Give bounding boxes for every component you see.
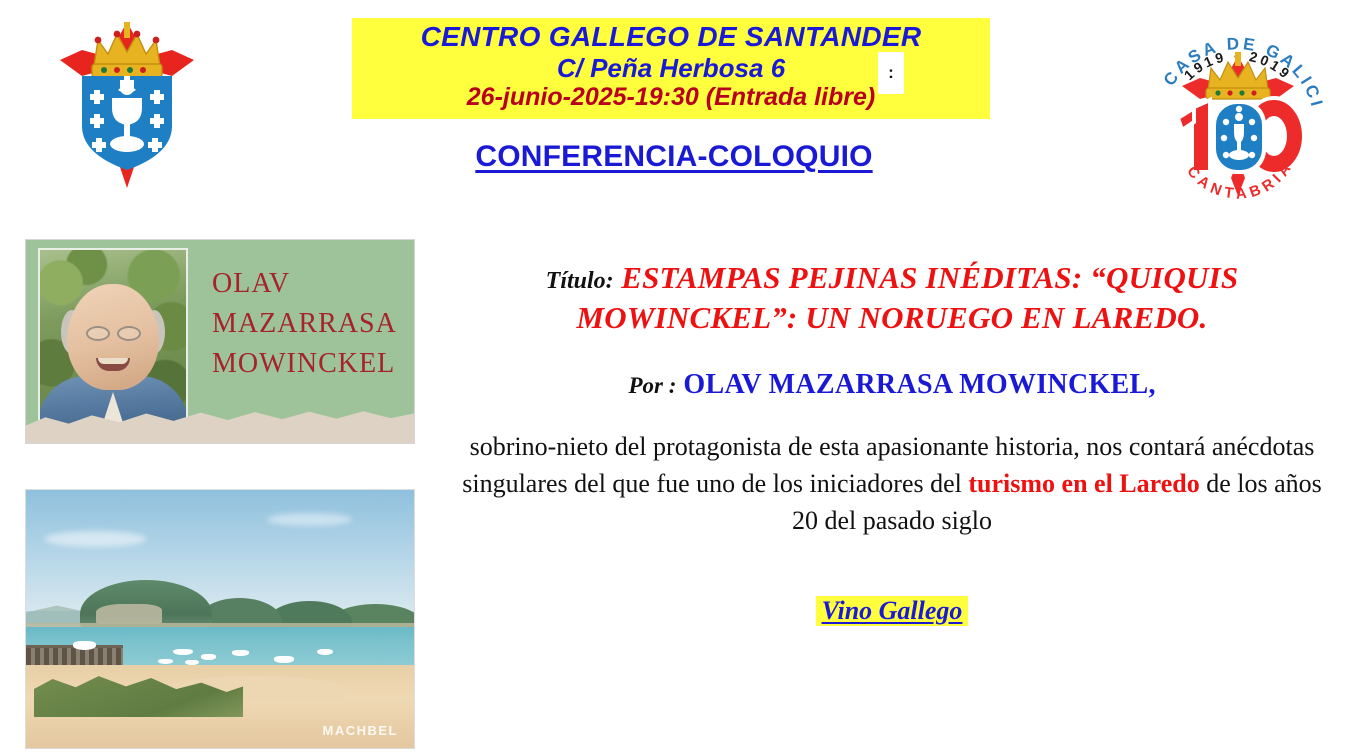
main-content-column: Título: ESTAMPAS PEJINAS INÉDITAS: “QUIQ… bbox=[452, 258, 1332, 626]
book-cover-title: OLAV MAZARRASA MOWINCKEL bbox=[212, 264, 408, 383]
portrait-glasses-left bbox=[86, 326, 110, 341]
photo-cloud bbox=[45, 531, 146, 546]
photo-sky bbox=[26, 490, 414, 611]
centenary-digit-0-shield bbox=[1212, 100, 1266, 174]
centenary-digit-1 bbox=[1178, 100, 1210, 172]
book-title-line-1: OLAV bbox=[212, 264, 408, 304]
portrait-head bbox=[67, 284, 159, 390]
author-portrait-photo bbox=[38, 248, 188, 434]
conference-title: ESTAMPAS PEJINAS INÉDITAS: “QUIQUIS MOWI… bbox=[577, 260, 1239, 335]
portrait-glasses-right bbox=[117, 326, 141, 341]
book-cover-image: OLAV MAZARRASA MOWINCKEL bbox=[26, 240, 414, 443]
photo-boat bbox=[173, 649, 192, 655]
photo-boat bbox=[232, 650, 249, 656]
laredo-beach-photo: MACHBEL bbox=[26, 490, 414, 748]
photo-boat bbox=[201, 654, 217, 660]
footer-note-wrapper: Vino Gallego bbox=[452, 596, 1332, 626]
description-highlight: turismo en el Laredo bbox=[968, 469, 1199, 498]
book-title-line-2: MAZARRASA bbox=[212, 304, 408, 344]
por-label: Por : bbox=[628, 373, 676, 398]
conference-title-block: Título: ESTAMPAS PEJINAS INÉDITAS: “QUIQ… bbox=[452, 258, 1332, 339]
photo-fishing-boat bbox=[73, 641, 96, 650]
speaker-comma: , bbox=[1149, 369, 1156, 400]
galicia-arms-svg bbox=[48, 14, 206, 194]
speaker-block: Por : OLAV MAZARRASA MOWINCKEL, bbox=[452, 369, 1332, 401]
photo-cloud bbox=[267, 513, 352, 526]
venue-name: CENTRO GALLEGO DE SANTANDER bbox=[352, 21, 990, 53]
conference-description: sobrino-nieto del protagonista de esta a… bbox=[452, 429, 1332, 540]
photo-boat bbox=[274, 656, 293, 662]
event-type-heading: CONFERENCIA-COLOQUIO bbox=[444, 140, 904, 174]
photo-cliff-face bbox=[96, 604, 162, 625]
speaker-name: OLAV MAZARRASA MOWINCKEL bbox=[683, 369, 1148, 400]
titulo-label: Título: bbox=[546, 268, 614, 294]
stray-colon-artifact: : bbox=[878, 52, 904, 94]
book-title-line-3: MOWINCKEL bbox=[212, 344, 408, 384]
casa-logo-svg: CASA DE GALICIA 1919 - 2019 bbox=[1148, 12, 1328, 200]
casa-de-galicia-centenary-logo: CASA DE GALICIA 1919 - 2019 bbox=[1148, 12, 1328, 200]
photo-watermark: MACHBEL bbox=[323, 723, 399, 738]
vino-gallego-note: Vino Gallego bbox=[816, 596, 969, 626]
portrait-teeth bbox=[98, 358, 128, 364]
galicia-coat-of-arms-logo bbox=[48, 14, 206, 194]
poster-root: CASA DE GALICIA 1919 - 2019 bbox=[0, 0, 1354, 754]
